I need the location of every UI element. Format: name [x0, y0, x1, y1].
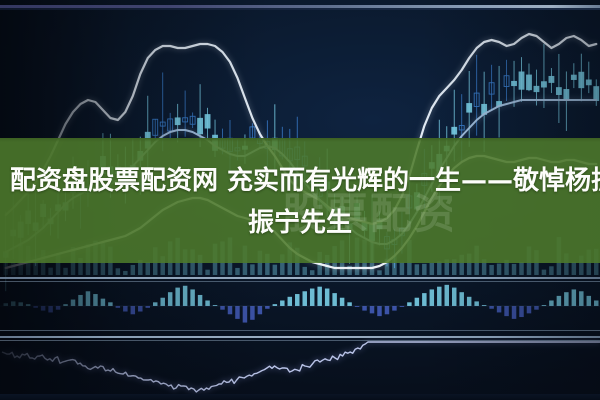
panel-divider-2a	[0, 330, 600, 331]
panel-divider-2	[0, 336, 600, 338]
green-band-top-fade	[0, 138, 600, 142]
panel-divider-1b	[0, 281, 600, 282]
headline-line-2: 振宁先生	[10, 202, 590, 244]
panel-divider-1	[0, 277, 600, 279]
banner-image: 股票配资网 配资盘股票配资网 充实而有光辉的一生——敬悼杨振宁 振宁先生	[0, 0, 600, 400]
top-divider-shadow	[0, 8, 600, 10]
headline-line-1: 配资盘股票配资网 充实而有光辉的一生——敬悼杨振宁	[10, 160, 590, 202]
panel-divider-2b	[0, 340, 600, 341]
headline: 配资盘股票配资网 充实而有光辉的一生——敬悼杨振宁 振宁先生	[0, 160, 600, 244]
bottom-strip	[0, 394, 600, 400]
